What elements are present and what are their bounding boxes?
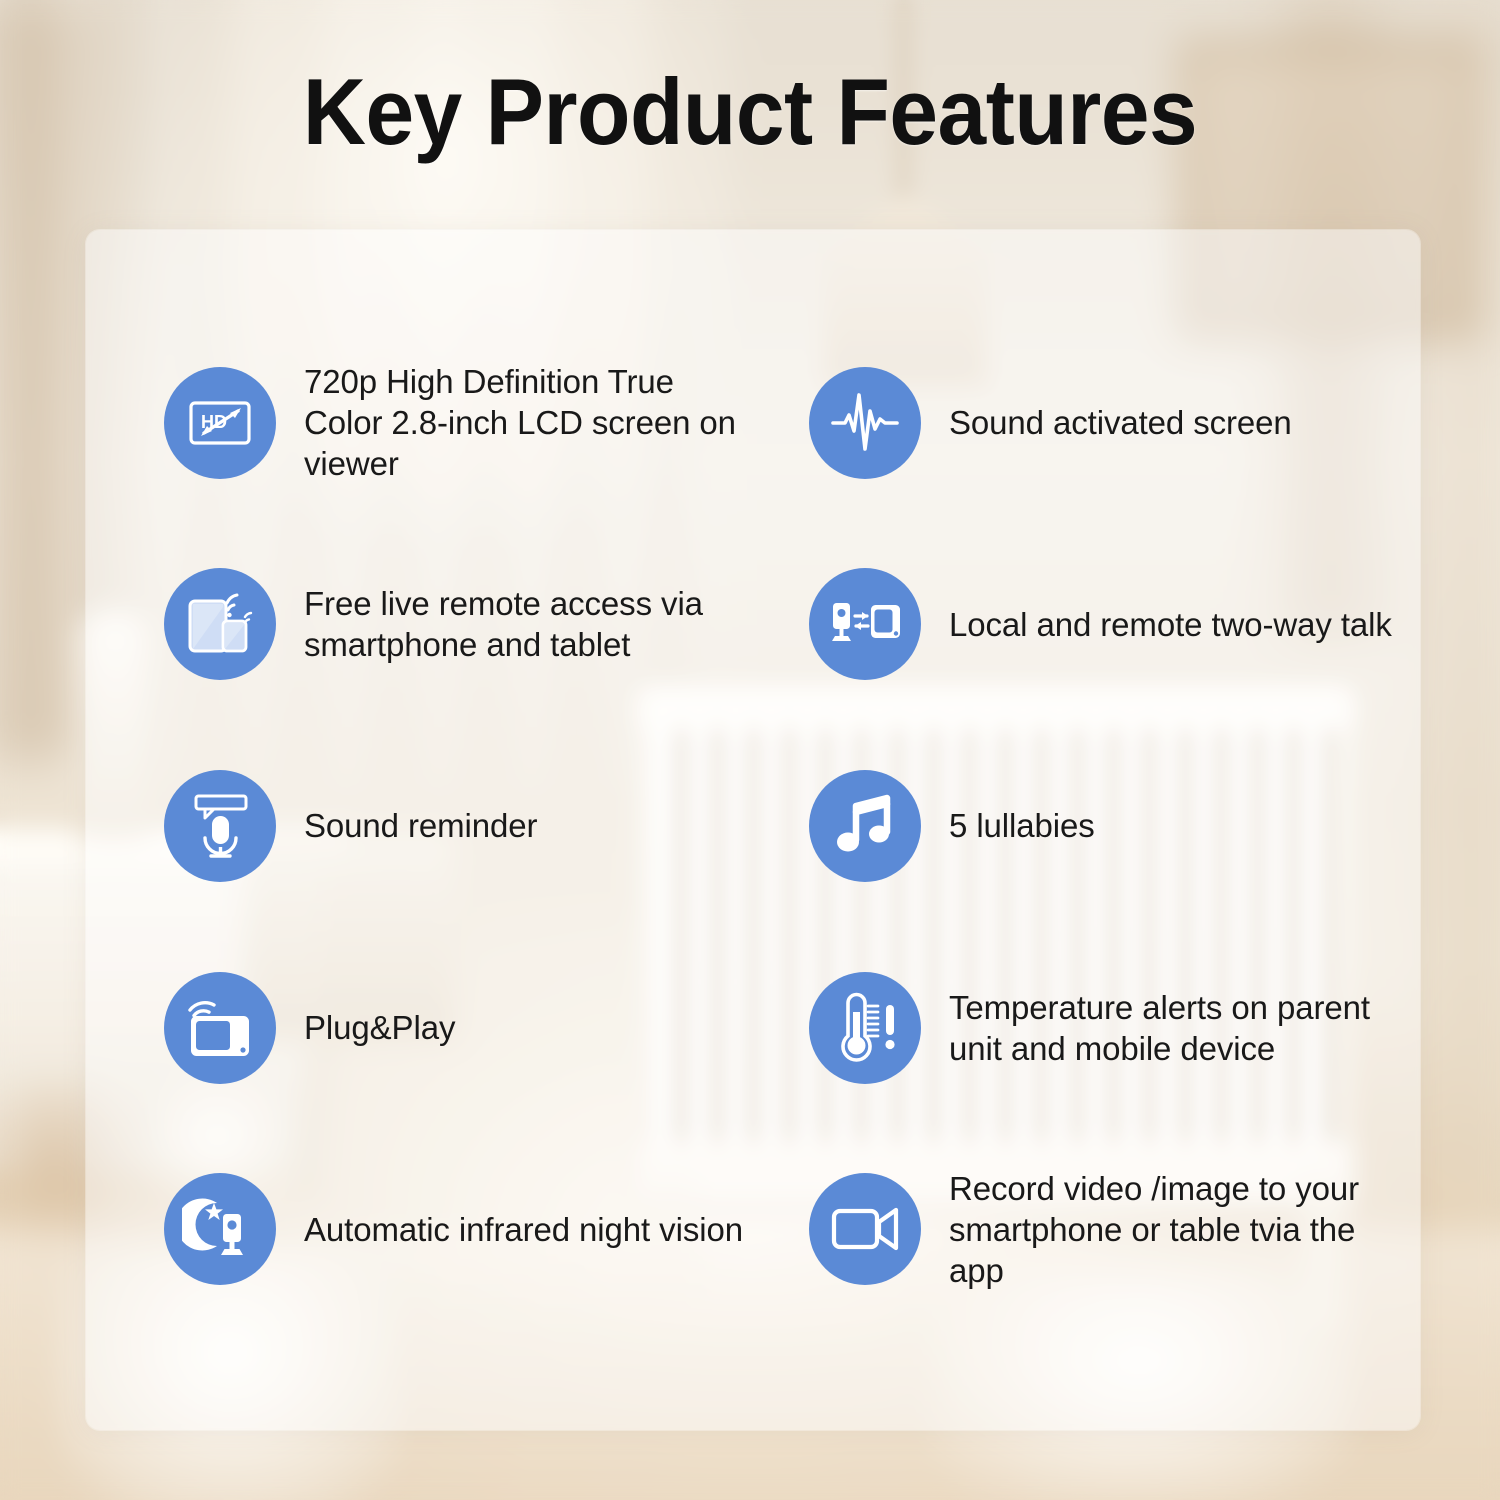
feature-label: Temperature alerts on parent unit and mo… xyxy=(949,987,1400,1069)
features-grid: HD 720p High Definition True Color 2.8-i… xyxy=(86,230,1420,1430)
feature-item-record-video: Record video /image to your smartphone o… xyxy=(809,1128,1400,1330)
feature-label: Sound reminder xyxy=(304,805,537,846)
feature-label: Local and remote two-way talk xyxy=(949,604,1392,645)
feature-label: 5 lullabies xyxy=(949,805,1095,846)
moon-camera-icon xyxy=(164,1173,276,1285)
thermometer-alert-icon xyxy=(809,972,921,1084)
feature-label: Automatic infrared night vision xyxy=(304,1209,743,1250)
feature-item-hd-screen: HD 720p High Definition True Color 2.8-i… xyxy=(164,322,755,524)
feature-item-sound-reminder: Sound reminder xyxy=(164,725,755,927)
feature-label: 720p High Definition True Color 2.8-inch… xyxy=(304,361,755,484)
monitor-wifi-icon xyxy=(164,972,276,1084)
feature-item-remote-access: Free live remote access via smartphone a… xyxy=(164,524,755,726)
tablet-phone-wifi-icon xyxy=(164,568,276,680)
sound-wave-icon xyxy=(809,367,921,479)
hd-screen-icon: HD xyxy=(164,367,276,479)
feature-item-two-way-talk: Local and remote two-way talk xyxy=(809,524,1400,726)
microphone-alert-icon xyxy=(164,770,276,882)
feature-label: Free live remote access via smartphone a… xyxy=(304,583,755,665)
feature-label: Record video /image to your smartphone o… xyxy=(949,1168,1400,1291)
page-title: Key Product Features xyxy=(53,60,1448,164)
feature-item-plug-and-play: Plug&Play xyxy=(164,927,755,1129)
video-camera-icon xyxy=(809,1173,921,1285)
music-note-icon xyxy=(809,770,921,882)
feature-item-lullabies: 5 lullabies xyxy=(809,725,1400,927)
camera-monitor-exchange-icon xyxy=(809,568,921,680)
feature-item-temperature-alerts: Temperature alerts on parent unit and mo… xyxy=(809,927,1400,1129)
feature-item-night-vision: Automatic infrared night vision xyxy=(164,1128,755,1330)
feature-item-sound-activated-screen: Sound activated screen xyxy=(809,322,1400,524)
svg-text:HD: HD xyxy=(201,412,227,432)
feature-label: Sound activated screen xyxy=(949,402,1292,443)
feature-label: Plug&Play xyxy=(304,1007,455,1048)
